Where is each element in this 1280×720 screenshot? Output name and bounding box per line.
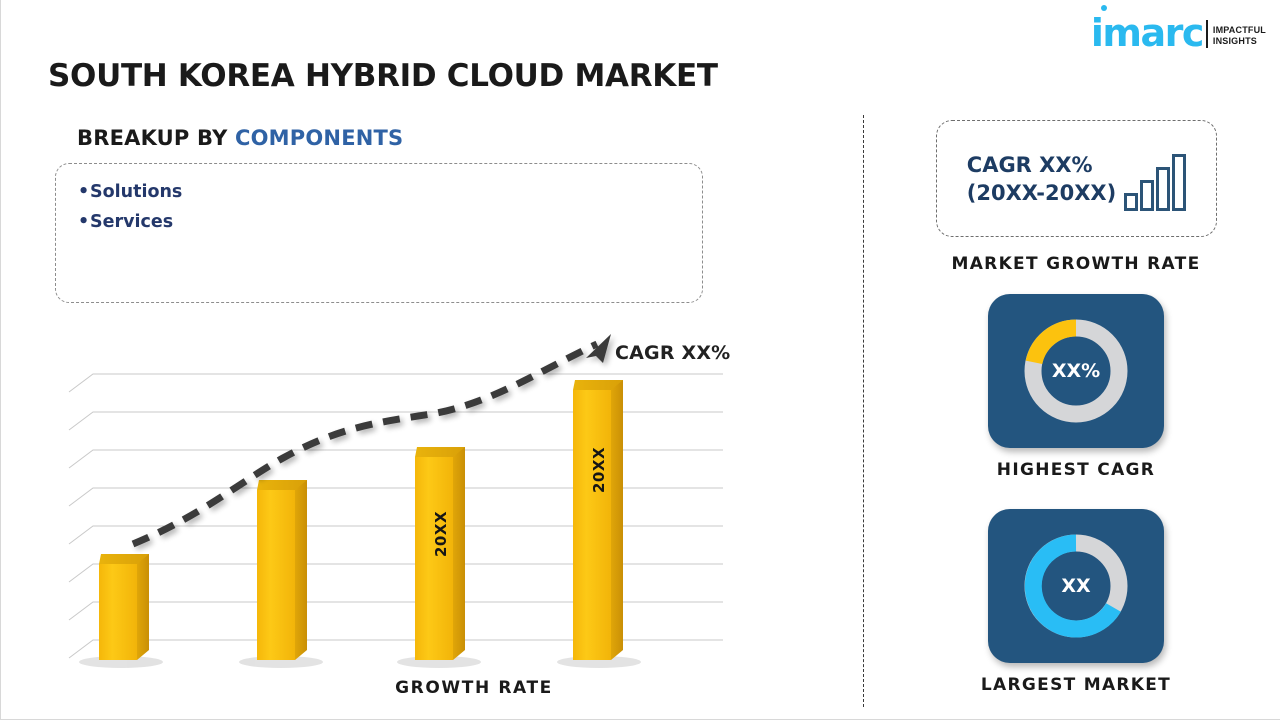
bullet-icon: • [78, 177, 90, 207]
imarc-logo: imarc IMPACTFUL INSIGHTS [1091, 8, 1266, 52]
cagr-box-line2: (20XX-20XX) [967, 179, 1116, 207]
breakup-heading: BREAKUP BY COMPONENTS [77, 126, 403, 150]
donut-chart: XX [1018, 528, 1134, 644]
logo-dot-icon [1101, 5, 1107, 11]
cagr-box-text: CAGR XX% (20XX-20XX) [967, 151, 1116, 207]
chart-cagr-label: CAGR XX% [615, 342, 730, 364]
largest-market-tile: XX [988, 509, 1164, 663]
breakup-heading-highlight: COMPONENTS [235, 126, 403, 150]
page-title: SOUTH KOREA HYBRID CLOUD MARKET [48, 58, 718, 94]
list-item-label: Solutions [90, 182, 182, 202]
components-list-box: •Solutions •Services [55, 163, 703, 303]
bar-chart-icon [1124, 153, 1186, 211]
chart-svg [51, 330, 751, 680]
infographic-page: imarc IMPACTFUL INSIGHTS SOUTH KOREA HYB… [0, 0, 1280, 720]
section-divider [863, 115, 864, 707]
cagr-box-line1: CAGR XX% [967, 151, 1116, 179]
donut-value: XX [1018, 528, 1134, 644]
market-growth-rate-caption: MARKET GROWTH RATE [901, 254, 1251, 274]
growth-rate-bar-chart: 20XX 20XX CAGR XX% GROWTH RATE [51, 330, 751, 720]
logo-divider [1206, 20, 1208, 48]
chart-bar-shadows [79, 656, 641, 668]
bar-year-label: 20XX [590, 447, 608, 493]
chart-x-axis-label: GROWTH RATE [349, 678, 599, 698]
logo-wordmark: imarc [1091, 14, 1203, 52]
chart-bar [257, 480, 307, 660]
market-growth-rate-box: CAGR XX% (20XX-20XX) [936, 120, 1217, 237]
chart-trend-line [133, 334, 611, 544]
highest-cagr-tile: XX% [988, 294, 1164, 448]
highest-cagr-caption: HIGHEST CAGR [901, 460, 1251, 480]
logo-tagline-line2: INSIGHTS [1213, 36, 1266, 47]
donut-chart: XX% [1018, 313, 1134, 429]
chart-trend-arrowhead [586, 334, 611, 363]
chart-bar [99, 554, 149, 660]
bullet-icon: • [78, 207, 90, 237]
largest-market-caption: LARGEST MARKET [901, 675, 1251, 695]
bar-year-label: 20XX [432, 511, 450, 557]
list-item-label: Services [90, 212, 173, 232]
chart-bar [573, 380, 623, 660]
breakup-heading-prefix: BREAKUP BY [77, 126, 235, 150]
logo-tagline-line1: IMPACTFUL [1213, 25, 1266, 36]
logo-wordmark-text: imarc [1091, 11, 1203, 55]
list-item: •Solutions [78, 177, 702, 207]
logo-tagline: IMPACTFUL INSIGHTS [1213, 25, 1266, 47]
list-item: •Services [78, 207, 702, 237]
donut-value: XX% [1018, 313, 1134, 429]
